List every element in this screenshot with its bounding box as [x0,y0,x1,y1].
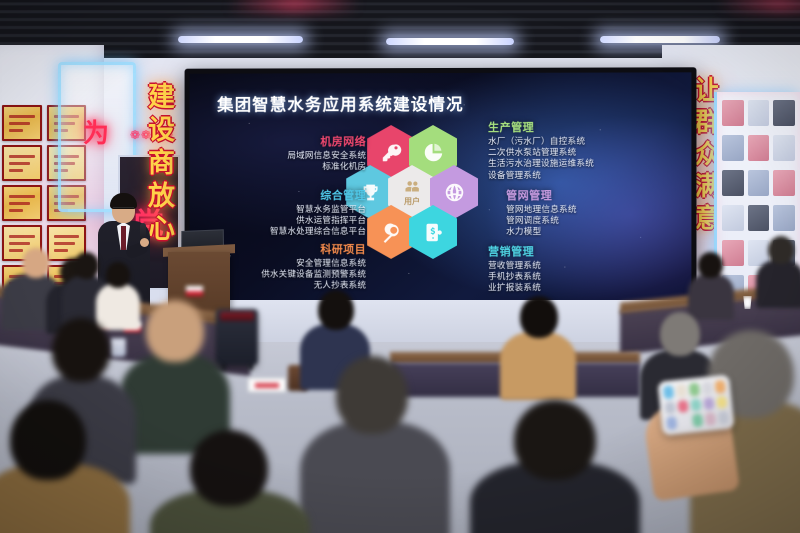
floor-name-card [248,378,286,392]
section-item: 二次供水泵站管理系统 [488,147,679,159]
phone-app-grid [663,380,729,430]
attendee-right [688,252,734,318]
phone-app-icon [705,412,716,426]
attendee-head [318,290,354,330]
mobile-payment-icon [423,221,444,242]
board-photo [722,100,744,126]
section-item: 业扩报装系统 [488,282,669,294]
attendee-head [52,318,110,382]
section-item: 手机抄表系统 [488,271,669,283]
attendee-head [10,400,86,480]
phone-app-icon [665,401,676,415]
section-item: 供水运管指挥平台 [203,215,366,226]
attendee-head [698,252,723,278]
slide-section-shengchan: 生产管理 水厂（污水厂）自控系统 二次供水泵站管理系统 生活污水治理设施运维系统… [488,121,679,181]
hexagon-cluster: 用户 [367,125,487,275]
ceiling-glow-left [227,0,359,12]
board-photo [722,170,744,196]
section-heading: 管网管理 [506,189,687,204]
section-heading: 机房网络 [217,135,366,150]
magnifier-icon [381,221,402,242]
board-photo [722,135,744,161]
award-plaque [2,105,42,141]
award-plaque [2,185,42,221]
phone-app-icon [703,397,714,411]
attendee-body [756,260,800,308]
presenter-tie [121,226,126,250]
audience-member [500,296,576,396]
board-photo [722,205,744,231]
phone-app-icon [679,415,690,429]
board-photo [748,205,770,231]
section-item: 局域网信息安全系统 [217,150,366,161]
presenter-glasses [113,207,134,212]
section-item: 智慧水处理综合信息平台 [203,226,366,237]
board-photo [773,170,795,196]
section-item: 管网地理信息系统 [506,204,687,215]
hex-center-label: 用户 [404,195,420,206]
section-item: 管网调度系统 [506,215,687,227]
board-photo [773,205,795,231]
pie-chart-icon [423,141,444,162]
slide-section-guanwang: 管网管理 管网地理信息系统 管网调度系统 水力模型 [506,189,687,238]
section-item: 标准化机房 [217,161,366,172]
attendee-right [756,236,800,306]
audience-member-front [120,300,230,450]
phone-app-icon [690,398,701,412]
globe-icon [443,181,464,202]
users-icon [404,178,421,195]
phone-app-icon [676,384,687,398]
section-item: 生活污水治理设施运维系统 [488,158,679,169]
name-card [186,286,203,296]
phone-app-icon [677,400,688,414]
attendee-head [336,356,408,434]
ceiling-light-2 [386,38,514,45]
slide-section-jifang: 机房网络 局域网信息安全系统 标准化机房 [217,135,366,172]
led-presentation-screen: 集团智慧水务应用系统建设情况 机房网络 局域网信息安全系统 标准化机房 综合管理… [185,67,697,306]
section-item: 供水关键设备监测预警系统 [209,268,366,280]
phone-app-icon [718,411,729,425]
neon-left-character: 为 [83,113,109,150]
slide-title: 集团智慧水务应用系统建设情况 [217,91,464,115]
attendee-head [146,300,204,362]
board-photo [748,135,770,161]
section-item: 水厂（污水厂）自控系统 [488,135,679,147]
audience-member-front [470,400,640,533]
presenter-hand [140,238,149,247]
audience-member-front [0,400,130,533]
phone-app-icon [666,416,677,430]
smartphone[interactable] [657,374,734,435]
slide-section-yingxiao: 营销管理 营收管理系统 手机抄表系统 业扩报装系统 [488,245,669,294]
ceiling-glow-right [716,0,800,12]
key-icon [381,142,402,163]
board-photo [748,100,770,126]
section-item: 安全管理信息系统 [209,257,366,269]
phone-app-icon [716,395,727,409]
attendee-head [520,296,558,338]
phone-app-icon [715,380,726,394]
attendee-head [514,400,596,480]
section-heading: 生产管理 [488,121,679,136]
phone-app-icon [663,385,674,399]
section-item: 设备管理系统 [488,169,679,180]
attendee-body [500,332,576,400]
phone-app-icon [692,414,703,428]
board-photo [773,135,795,161]
section-item: 水力模型 [506,226,687,238]
attendee-body [300,422,450,533]
attendee-head [106,262,130,288]
award-plaque [2,145,42,181]
section-heading: 综合管理 [203,189,366,203]
phone-app-icon [689,383,700,397]
slide-section-zonghe: 综合管理 智慧水务监管平台 供水运管指挥平台 智慧水处理综合信息平台 [203,189,366,237]
attendee-head [768,236,794,264]
board-photo [773,100,795,126]
board-photo [748,170,770,196]
phone-app-icon [702,381,713,395]
ceiling-light-1 [178,36,303,43]
speaker-foot [248,364,253,370]
ceiling-light-3 [600,36,720,43]
audience-member-front [150,430,310,533]
section-heading: 营销管理 [488,245,669,260]
section-item: 营收管理系统 [488,260,669,272]
presentation-room-scene: 为 党 ❁❁❁❁ 建设商放心 让群众满意 集团智慧水务应用系统建设情况 机房网络… [0,0,800,533]
attendee-head [190,430,268,506]
section-item: 智慧水务监管平台 [203,203,366,214]
audience-member-front [300,356,450,533]
